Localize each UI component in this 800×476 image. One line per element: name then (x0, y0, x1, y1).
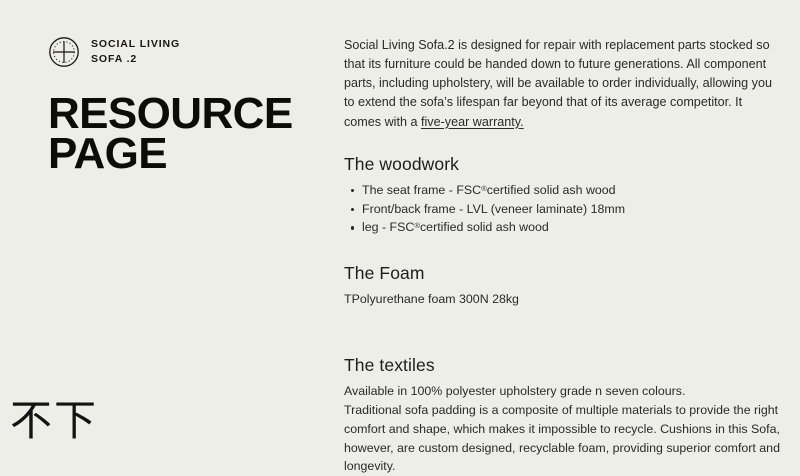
section-foam: The Foam TPolyurethane foam 300N 28kg (344, 263, 780, 309)
section-heading-foam: The Foam (344, 263, 780, 284)
textiles-availability-text: Available in 100% polyester upholstery g… (344, 382, 780, 401)
resource-page-slide: SOCIAL LIVING SOFA .2 RESOURCE PAGE 不下 S… (0, 0, 800, 449)
bullet-text-after: certified solid ash wood (420, 220, 549, 234)
list-item: Front/back frame - LVL (veneer laminate)… (362, 200, 780, 219)
brand-name-line-1: SOCIAL LIVING (91, 37, 180, 52)
brand-name-line-2: SOFA .2 (91, 52, 180, 67)
page-title-line-2: PAGE (48, 134, 328, 174)
section-heading-woodwork: The woodwork (344, 154, 780, 175)
page-title: RESOURCE PAGE (48, 94, 328, 175)
cjk-watermark: 不下 (10, 400, 98, 442)
foam-spec-text: TPolyurethane foam 300N 28kg (344, 290, 780, 309)
intro-text: Social Living Sofa.2 is designed for rep… (344, 38, 772, 129)
page-title-line-1: RESOURCE (48, 94, 328, 134)
right-column: Social Living Sofa.2 is designed for rep… (344, 36, 780, 476)
bullet-text-before: leg - FSC (362, 220, 414, 234)
intro-paragraph: Social Living Sofa.2 is designed for rep… (344, 36, 780, 132)
brand-name: SOCIAL LIVING SOFA .2 (91, 37, 180, 67)
bullet-text-after: certified solid ash wood (487, 183, 616, 197)
brand-lockup: SOCIAL LIVING SOFA .2 (48, 36, 328, 68)
list-item: leg - FSC®certified solid ash wood (362, 218, 780, 237)
warranty-link[interactable]: five-year warranty. (421, 115, 524, 129)
crosshair-circle-logo-icon (48, 36, 80, 68)
bullet-text-before: The seat frame - FSC (362, 183, 481, 197)
list-item: The seat frame - FSC®certified solid ash… (362, 181, 780, 200)
left-column: SOCIAL LIVING SOFA .2 RESOURCE PAGE (48, 36, 328, 175)
woodwork-bullet-list: The seat frame - FSC®certified solid ash… (344, 181, 780, 238)
section-heading-textiles: The textiles (344, 355, 780, 376)
section-woodwork: The woodwork The seat frame - FSC®certif… (344, 154, 780, 238)
textiles-description-paragraph: Traditional sofa padding is a composite … (344, 401, 780, 476)
bullet-text-before: Front/back frame - LVL (veneer laminate)… (362, 202, 625, 216)
section-textiles: The textiles Available in 100% polyester… (344, 355, 780, 476)
